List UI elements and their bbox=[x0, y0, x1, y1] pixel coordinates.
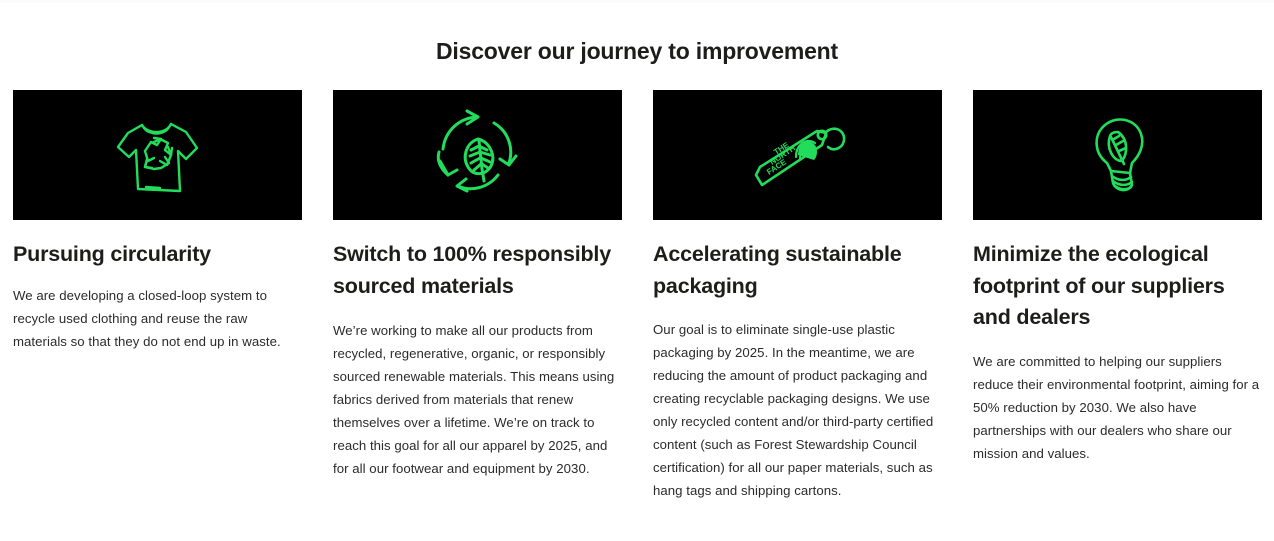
card-media bbox=[333, 90, 622, 220]
lightbulb-leaf-icon bbox=[1058, 103, 1178, 208]
hang-tag-north-face-icon: THE NORTH FACE bbox=[738, 103, 858, 208]
card-body: We’re working to make all our products f… bbox=[333, 320, 622, 481]
card-heading: Accelerating sustainable packaging bbox=[653, 239, 942, 302]
card-heading: Minimize the ecological footprint of our… bbox=[973, 239, 1262, 334]
card-pursuing-circularity[interactable]: Pursuing circularity We are developing a… bbox=[13, 90, 302, 503]
card-minimize-ecological-footprint[interactable]: Minimize the ecological footprint of our… bbox=[973, 90, 1262, 503]
card-body: Our goal is to eliminate single-use plas… bbox=[653, 319, 942, 503]
card-heading: Pursuing circularity bbox=[13, 239, 302, 271]
sustainability-journey-section: Discover our journey to improvement bbox=[0, 0, 1274, 541]
card-heading: Switch to 100% responsibly sourced mater… bbox=[333, 239, 622, 302]
card-grid: Pursuing circularity We are developing a… bbox=[13, 90, 1261, 503]
top-hairline bbox=[0, 0, 1274, 3]
card-media bbox=[973, 90, 1262, 220]
card-sustainable-packaging[interactable]: THE NORTH FACE Accelerating sustainable … bbox=[653, 90, 942, 503]
card-responsibly-sourced-materials[interactable]: Switch to 100% responsibly sourced mater… bbox=[333, 90, 622, 503]
card-body: We are committed to helping our supplier… bbox=[973, 351, 1262, 466]
card-media: THE NORTH FACE bbox=[653, 90, 942, 220]
leaf-recycle-arrows-icon bbox=[418, 103, 538, 208]
tshirt-recycle-icon bbox=[98, 103, 218, 208]
card-media bbox=[13, 90, 302, 220]
card-body: We are developing a closed-loop system t… bbox=[13, 285, 302, 354]
page-title: Discover our journey to improvement bbox=[0, 38, 1274, 66]
